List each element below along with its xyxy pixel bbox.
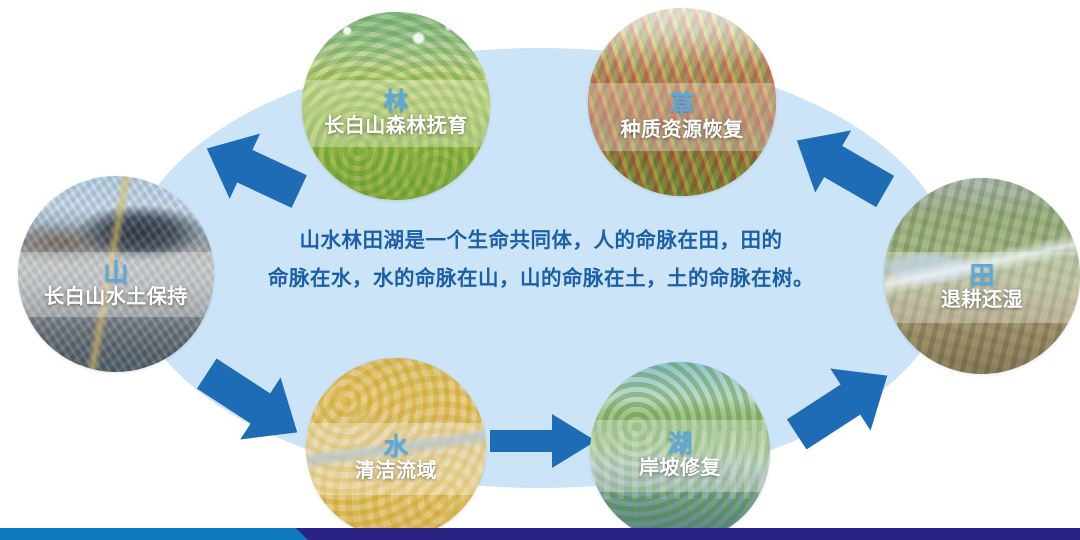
node-hu-label-band: 湖 岸坡修复 (590, 420, 770, 492)
node-hu-label: 岸坡修复 (639, 457, 721, 480)
central-quote-line-2: 命脉在水，水的命脉在山，山的命脉在土，土的命脉在树。 (236, 260, 846, 298)
node-lin-label-band: 林 长白山森林抚育 (302, 80, 490, 148)
slide-canvas: 山水林田湖是一个生命共同体，人的命脉在田，田的 命脉在水，水的命脉在山，山的命脉… (0, 0, 1080, 540)
blue-accent-bar (0, 528, 308, 540)
node-cao-label-band: 草 种质资源恢复 (588, 83, 776, 151)
node-hu-kanji: 湖 (667, 431, 692, 457)
navy-footer-bar (272, 528, 1080, 540)
node-tian-label-band: 田 退耕还湿 (884, 252, 1080, 323)
node-shui-label-band: 水 清洁流域 (306, 423, 486, 495)
node-cao-kanji: 草 (669, 92, 694, 118)
node-shui[interactable]: 水 清洁流域 (306, 358, 486, 538)
node-lin-kanji: 林 (383, 89, 408, 115)
central-quote: 山水林田湖是一个生命共同体，人的命脉在田，田的 命脉在水，水的命脉在山，山的命脉… (236, 222, 846, 298)
central-quote-line-1: 山水林田湖是一个生命共同体，人的命脉在田，田的 (236, 222, 846, 260)
arrow-shui-to-hu[interactable] (488, 412, 600, 470)
node-lin-label: 长白山森林抚育 (324, 115, 468, 138)
node-tian-label: 退耕还湿 (941, 289, 1023, 312)
node-lin[interactable]: 林 长白山森林抚育 (302, 12, 490, 200)
node-cao-label: 种质资源恢复 (621, 119, 744, 142)
node-tian[interactable]: 田 退耕还湿 (884, 178, 1080, 374)
node-tian-kanji: 田 (969, 263, 994, 289)
node-shan-kanji: 山 (103, 260, 128, 286)
node-shui-kanji: 水 (383, 434, 408, 460)
node-hu[interactable]: 湖 岸坡修复 (590, 362, 770, 540)
node-shui-label: 清洁流域 (355, 460, 437, 483)
node-shan-label: 长白山水土保持 (44, 286, 188, 309)
node-shan-label-band: 山 长白山水土保持 (18, 252, 214, 317)
node-shan[interactable]: 山 长白山水土保持 (18, 176, 214, 372)
node-cao[interactable]: 草 种质资源恢复 (588, 8, 776, 196)
